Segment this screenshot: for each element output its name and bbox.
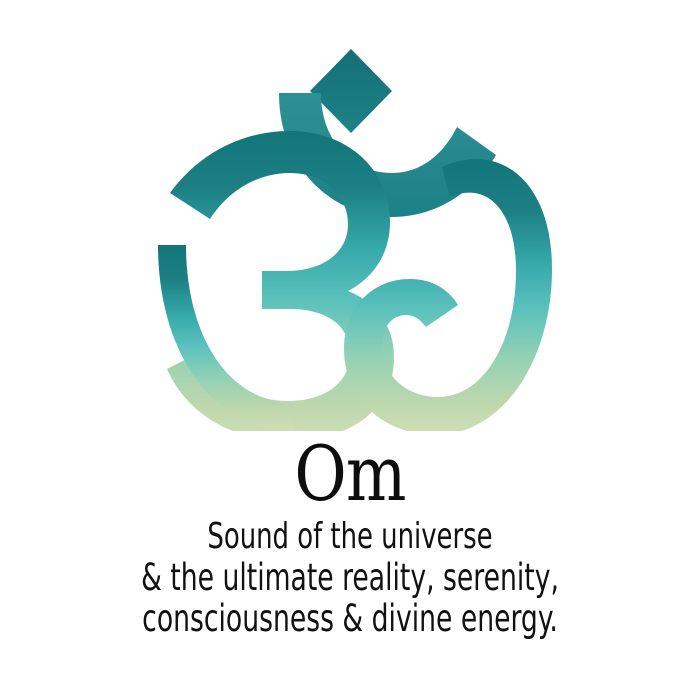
om-symbol-container [0, 26, 700, 436]
om-poster: Om Sound of the universe & the ultimate … [0, 0, 700, 700]
description-line-2: & the ultimate reality, serenity, [70, 557, 630, 598]
text-block: Om Sound of the universe & the ultimate … [0, 436, 700, 639]
page-title: Om [56, 436, 644, 516]
om-symbol [140, 31, 560, 431]
description-line-1: Sound of the universe [70, 516, 630, 557]
om-body [158, 131, 552, 431]
description-line-3: consciousness & divine energy. [70, 598, 630, 639]
description-block: Sound of the universe & the ultimate rea… [0, 516, 700, 639]
